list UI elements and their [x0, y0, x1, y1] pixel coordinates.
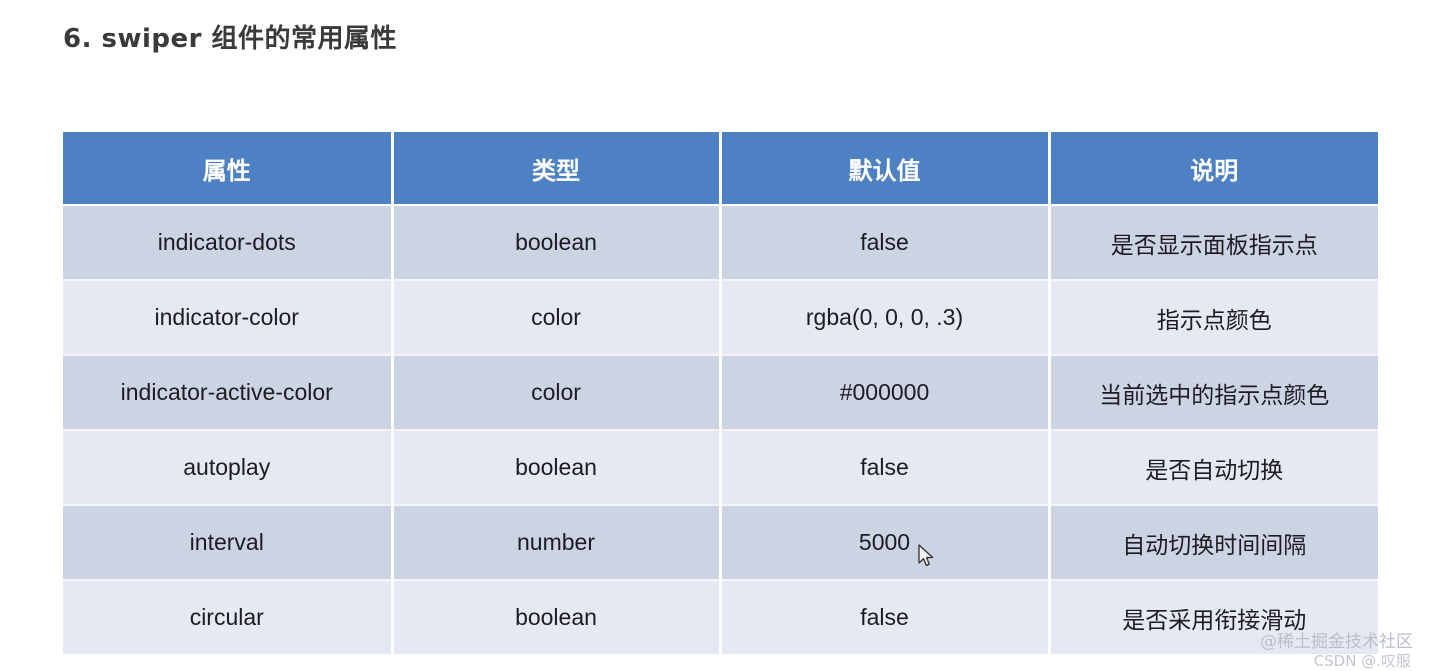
cell-attribute: indicator-color [63, 280, 392, 355]
cell-default: false [720, 205, 1049, 280]
cell-attribute: autoplay [63, 430, 392, 505]
table-header-row: 属性 类型 默认值 说明 [63, 132, 1378, 205]
watermark-primary: @稀土掘金技术社区 [1260, 627, 1413, 652]
cell-attribute: circular [63, 580, 392, 654]
cell-type: number [392, 505, 720, 580]
cell-default: #000000 [720, 355, 1049, 430]
table-row: indicator-dots boolean false 是否显示面板指示点 [63, 205, 1378, 280]
cell-default: rgba(0, 0, 0, .3) [720, 280, 1049, 355]
page-title: 6. swiper 组件的常用属性 [63, 18, 397, 55]
cell-default: 5000 [720, 505, 1049, 580]
cell-type: boolean [392, 430, 720, 505]
column-header-attribute: 属性 [63, 132, 392, 205]
cell-default: false [720, 580, 1049, 654]
cell-type: color [392, 355, 720, 430]
cell-default: false [720, 430, 1049, 505]
cell-description: 当前选中的指示点颜色 [1049, 355, 1378, 430]
table-row: circular boolean false 是否采用衔接滑动 [63, 580, 1378, 654]
cell-type: boolean [392, 205, 720, 280]
cell-attribute: interval [63, 505, 392, 580]
table-row: indicator-color color rgba(0, 0, 0, .3) … [63, 280, 1378, 355]
cell-type: boolean [392, 580, 720, 654]
cell-description: 自动切换时间间隔 [1049, 505, 1378, 580]
cell-description: 是否自动切换 [1049, 430, 1378, 505]
column-header-description: 说明 [1049, 132, 1378, 205]
cell-description: 指示点颜色 [1049, 280, 1378, 355]
column-header-type: 类型 [392, 132, 720, 205]
cell-attribute: indicator-dots [63, 205, 392, 280]
cell-type: color [392, 280, 720, 355]
watermark-secondary: CSDN @.叹服 [1314, 650, 1411, 671]
table-row: interval number 5000 自动切换时间间隔 [63, 505, 1378, 580]
column-header-default: 默认值 [720, 132, 1049, 205]
swiper-attributes-table: 属性 类型 默认值 说明 indicator-dots boolean fals… [63, 132, 1378, 654]
cell-attribute: indicator-active-color [63, 355, 392, 430]
table-row: indicator-active-color color #000000 当前选… [63, 355, 1378, 430]
table-row: autoplay boolean false 是否自动切换 [63, 430, 1378, 505]
cell-description: 是否显示面板指示点 [1049, 205, 1378, 280]
